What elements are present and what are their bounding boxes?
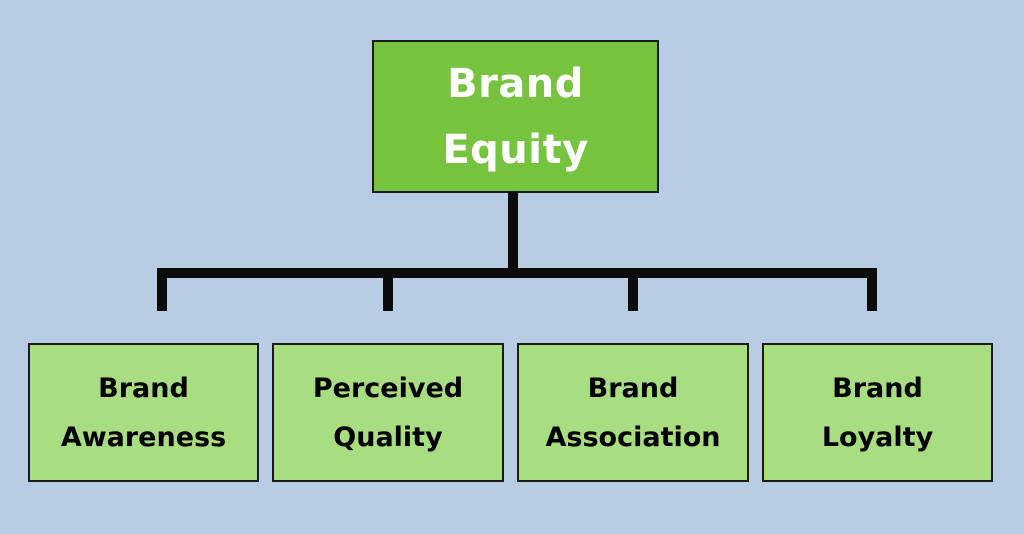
node-perceived-quality-line-1: Perceived: [313, 375, 463, 402]
node-brand-loyalty[interactable]: Brand Loyalty: [762, 343, 993, 482]
connector-drop-brand-awareness: [157, 270, 167, 311]
node-brand-awareness-line-2: Awareness: [61, 424, 226, 451]
node-brand-association[interactable]: Brand Association: [517, 343, 749, 482]
node-brand-loyalty-line-2: Loyalty: [822, 424, 933, 451]
node-brand-loyalty-line-1: Brand: [832, 375, 923, 402]
node-brand-association-line-2: Association: [546, 424, 721, 451]
node-brand-awareness[interactable]: Brand Awareness: [28, 343, 259, 482]
node-brand-awareness-line-1: Brand: [98, 375, 189, 402]
node-perceived-quality-line-2: Quality: [333, 424, 442, 451]
connector-horizontal-bus: [157, 268, 877, 278]
connector-drop-brand-loyalty: [867, 270, 877, 311]
node-brand-equity[interactable]: Brand Equity: [372, 40, 659, 193]
connector-drop-brand-association: [628, 270, 638, 311]
node-brand-equity-line-2: Equity: [442, 130, 588, 170]
node-perceived-quality[interactable]: Perceived Quality: [272, 343, 504, 482]
connector-root-stem: [508, 192, 518, 270]
node-brand-equity-line-1: Brand: [447, 64, 584, 104]
connector-drop-perceived-quality: [383, 270, 393, 311]
brand-equity-diagram: Brand Equity Brand Awareness Perceived Q…: [0, 0, 1024, 534]
node-brand-association-line-1: Brand: [588, 375, 679, 402]
